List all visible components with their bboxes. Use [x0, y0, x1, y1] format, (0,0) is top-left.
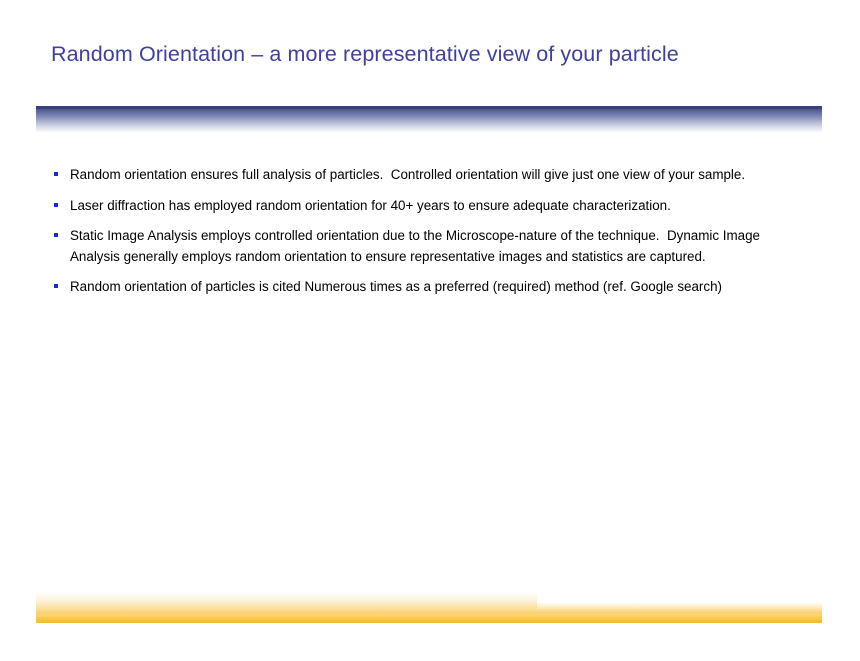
square-bullet-icon — [51, 196, 70, 207]
list-item-label: Laser diffraction has employed random or… — [70, 196, 781, 217]
list-item: Random orientation of particles is cited… — [51, 277, 781, 298]
bullet-list: Random orientation ensures full analysis… — [51, 165, 781, 308]
footer-accent-bar — [36, 614, 822, 623]
footer-decoration — [0, 0, 860, 661]
square-bullet-icon — [51, 277, 70, 288]
page-title: Random Orientation – a more representati… — [51, 40, 751, 69]
list-item-label: Random orientation of particles is cited… — [70, 277, 781, 298]
list-item: Random orientation ensures full analysis… — [51, 165, 781, 186]
title-divider — [36, 106, 822, 133]
square-bullet-icon — [51, 165, 70, 176]
slide-title-block: Random Orientation – a more representati… — [51, 40, 751, 69]
list-item-label: Random orientation ensures full analysis… — [70, 165, 781, 186]
list-item: Laser diffraction has employed random or… — [51, 196, 781, 217]
square-bullet-icon — [51, 226, 70, 237]
footer-gradient-right — [537, 602, 822, 614]
footer-gradient-left — [36, 592, 537, 614]
list-item-label: Static Image Analysis employs controlled… — [70, 226, 781, 267]
title-divider-gradient — [36, 109, 822, 133]
slide-canvas: Random Orientation – a more representati… — [0, 0, 860, 661]
list-item: Static Image Analysis employs controlled… — [51, 226, 781, 267]
